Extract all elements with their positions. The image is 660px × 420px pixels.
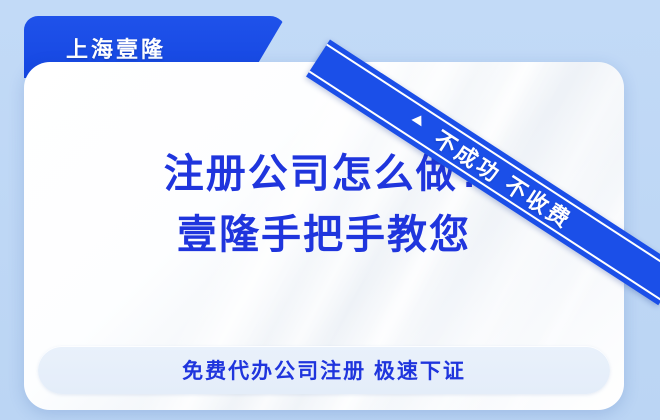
offer-banner[interactable]: 免费代办公司注册 极速下证 (38, 346, 610, 394)
main-card: 注册公司怎么做? 壹隆手把手教您 免费代办公司注册 极速下证 (24, 62, 624, 410)
triangle-up-icon (411, 112, 426, 126)
poster-stage: 上海壹隆 注册公司怎么做? 壹隆手把手教您 免费代办公司注册 极速下证 不成功 … (0, 0, 660, 420)
brand-tab-label: 上海壹隆 (66, 32, 166, 64)
offer-banner-text: 免费代办公司注册 极速下证 (182, 355, 466, 385)
